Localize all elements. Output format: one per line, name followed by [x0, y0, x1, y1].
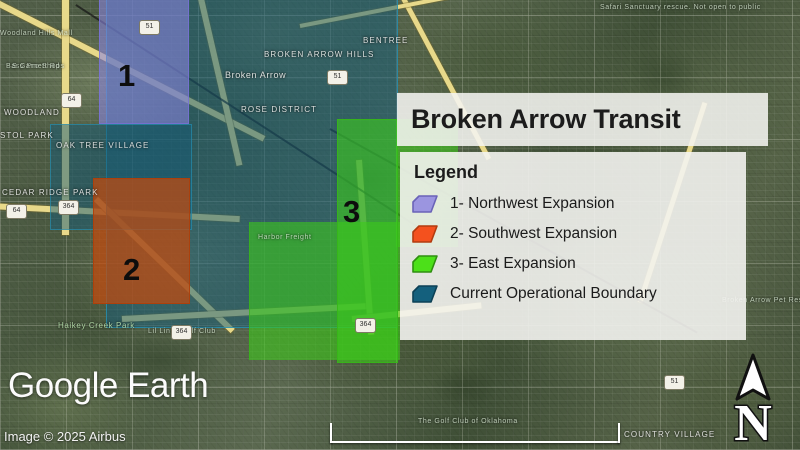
- map-title-panel: Broken Arrow Transit: [397, 93, 768, 146]
- highway-shield: 364: [171, 325, 192, 340]
- scale-bar-left-tick: [330, 423, 332, 443]
- legend-label-southwest-expansion: 2- Southwest Expansion: [450, 225, 617, 243]
- region-label-2: 2: [123, 254, 140, 285]
- map-place-label: S Garnett Rd: [12, 63, 60, 70]
- map-place-label: OAK TREE VILLAGE: [56, 141, 149, 150]
- legend-swatch-east-expansion: [410, 253, 440, 275]
- highway-shield: 364: [58, 200, 79, 215]
- scale-bar-line: [330, 441, 620, 443]
- legend-label-current-operational-boundary: Current Operational Boundary: [450, 285, 657, 303]
- north-arrow-icon: N: [722, 352, 784, 444]
- map-legend-panel: Legend 1- Northwest Expansion2- Southwes…: [400, 152, 746, 340]
- legend-label-east-expansion: 3- East Expansion: [450, 255, 576, 273]
- legend-swatch-southwest-expansion: [410, 223, 440, 245]
- map-scale-bar: 9 mi: [330, 421, 620, 443]
- legend-heading: Legend: [414, 162, 746, 183]
- legend-item-east-expansion: 3- East Expansion: [410, 249, 746, 279]
- map-place-label: WOODLAND: [4, 108, 60, 117]
- imagery-attribution: Image © 2025 Airbus: [4, 429, 126, 444]
- legend-swatch-northwest-expansion: [410, 193, 440, 215]
- highway-shield: 51: [664, 375, 685, 390]
- legend-swatch-current-operational-boundary: [410, 283, 440, 305]
- map-place-label: Broken Arrow: [225, 70, 286, 80]
- legend-item-list: 1- Northwest Expansion2- Southwest Expan…: [410, 189, 746, 309]
- legend-item-current-operational-boundary: Current Operational Boundary: [410, 279, 746, 309]
- highway-shield: 64: [61, 93, 82, 108]
- map-title: Broken Arrow Transit: [411, 104, 681, 135]
- highway-shield: 364: [355, 318, 376, 333]
- compass-north-letter: N: [734, 395, 772, 444]
- region-northwest-expansion: [99, 0, 189, 124]
- map-place-label: Woodland Hills Mall: [0, 30, 73, 37]
- region-southwest-expansion: [93, 178, 190, 304]
- region-label-3: 3: [343, 196, 360, 227]
- map-place-label: Harbor Freight: [258, 234, 312, 241]
- map-place-label: ROSE DISTRICT: [241, 105, 317, 114]
- map-place-label: COUNTRY VILLAGE: [624, 430, 715, 439]
- legend-label-northwest-expansion: 1- Northwest Expansion: [450, 195, 615, 213]
- map-place-label: BENTREE: [363, 36, 409, 45]
- map-place-label: CEDAR RIDGE PARK: [2, 188, 99, 197]
- highway-shield: 64: [6, 204, 27, 219]
- highway-shield: 51: [139, 20, 160, 35]
- north-arrow-compass: N: [722, 352, 784, 444]
- map-place-label: Haikey Creek Park: [58, 321, 135, 330]
- google-earth-map-screenshot: 1 2 3 BENTREEBROKEN ARROW HILLSBroken Ar…: [0, 0, 800, 450]
- map-place-label: BROKEN ARROW HILLS: [264, 50, 375, 59]
- legend-item-northwest-expansion: 1- Northwest Expansion: [410, 189, 746, 219]
- google-earth-logo: Google Earth: [8, 366, 208, 406]
- highway-shield: 51: [327, 70, 348, 85]
- region-label-1: 1: [118, 60, 135, 91]
- map-place-label: Safari Sanctuary rescue. Not open to pub…: [600, 4, 761, 11]
- legend-item-southwest-expansion: 2- Southwest Expansion: [410, 219, 746, 249]
- map-place-label: STOL PARK: [0, 131, 54, 140]
- scale-bar-right-tick: [618, 423, 620, 443]
